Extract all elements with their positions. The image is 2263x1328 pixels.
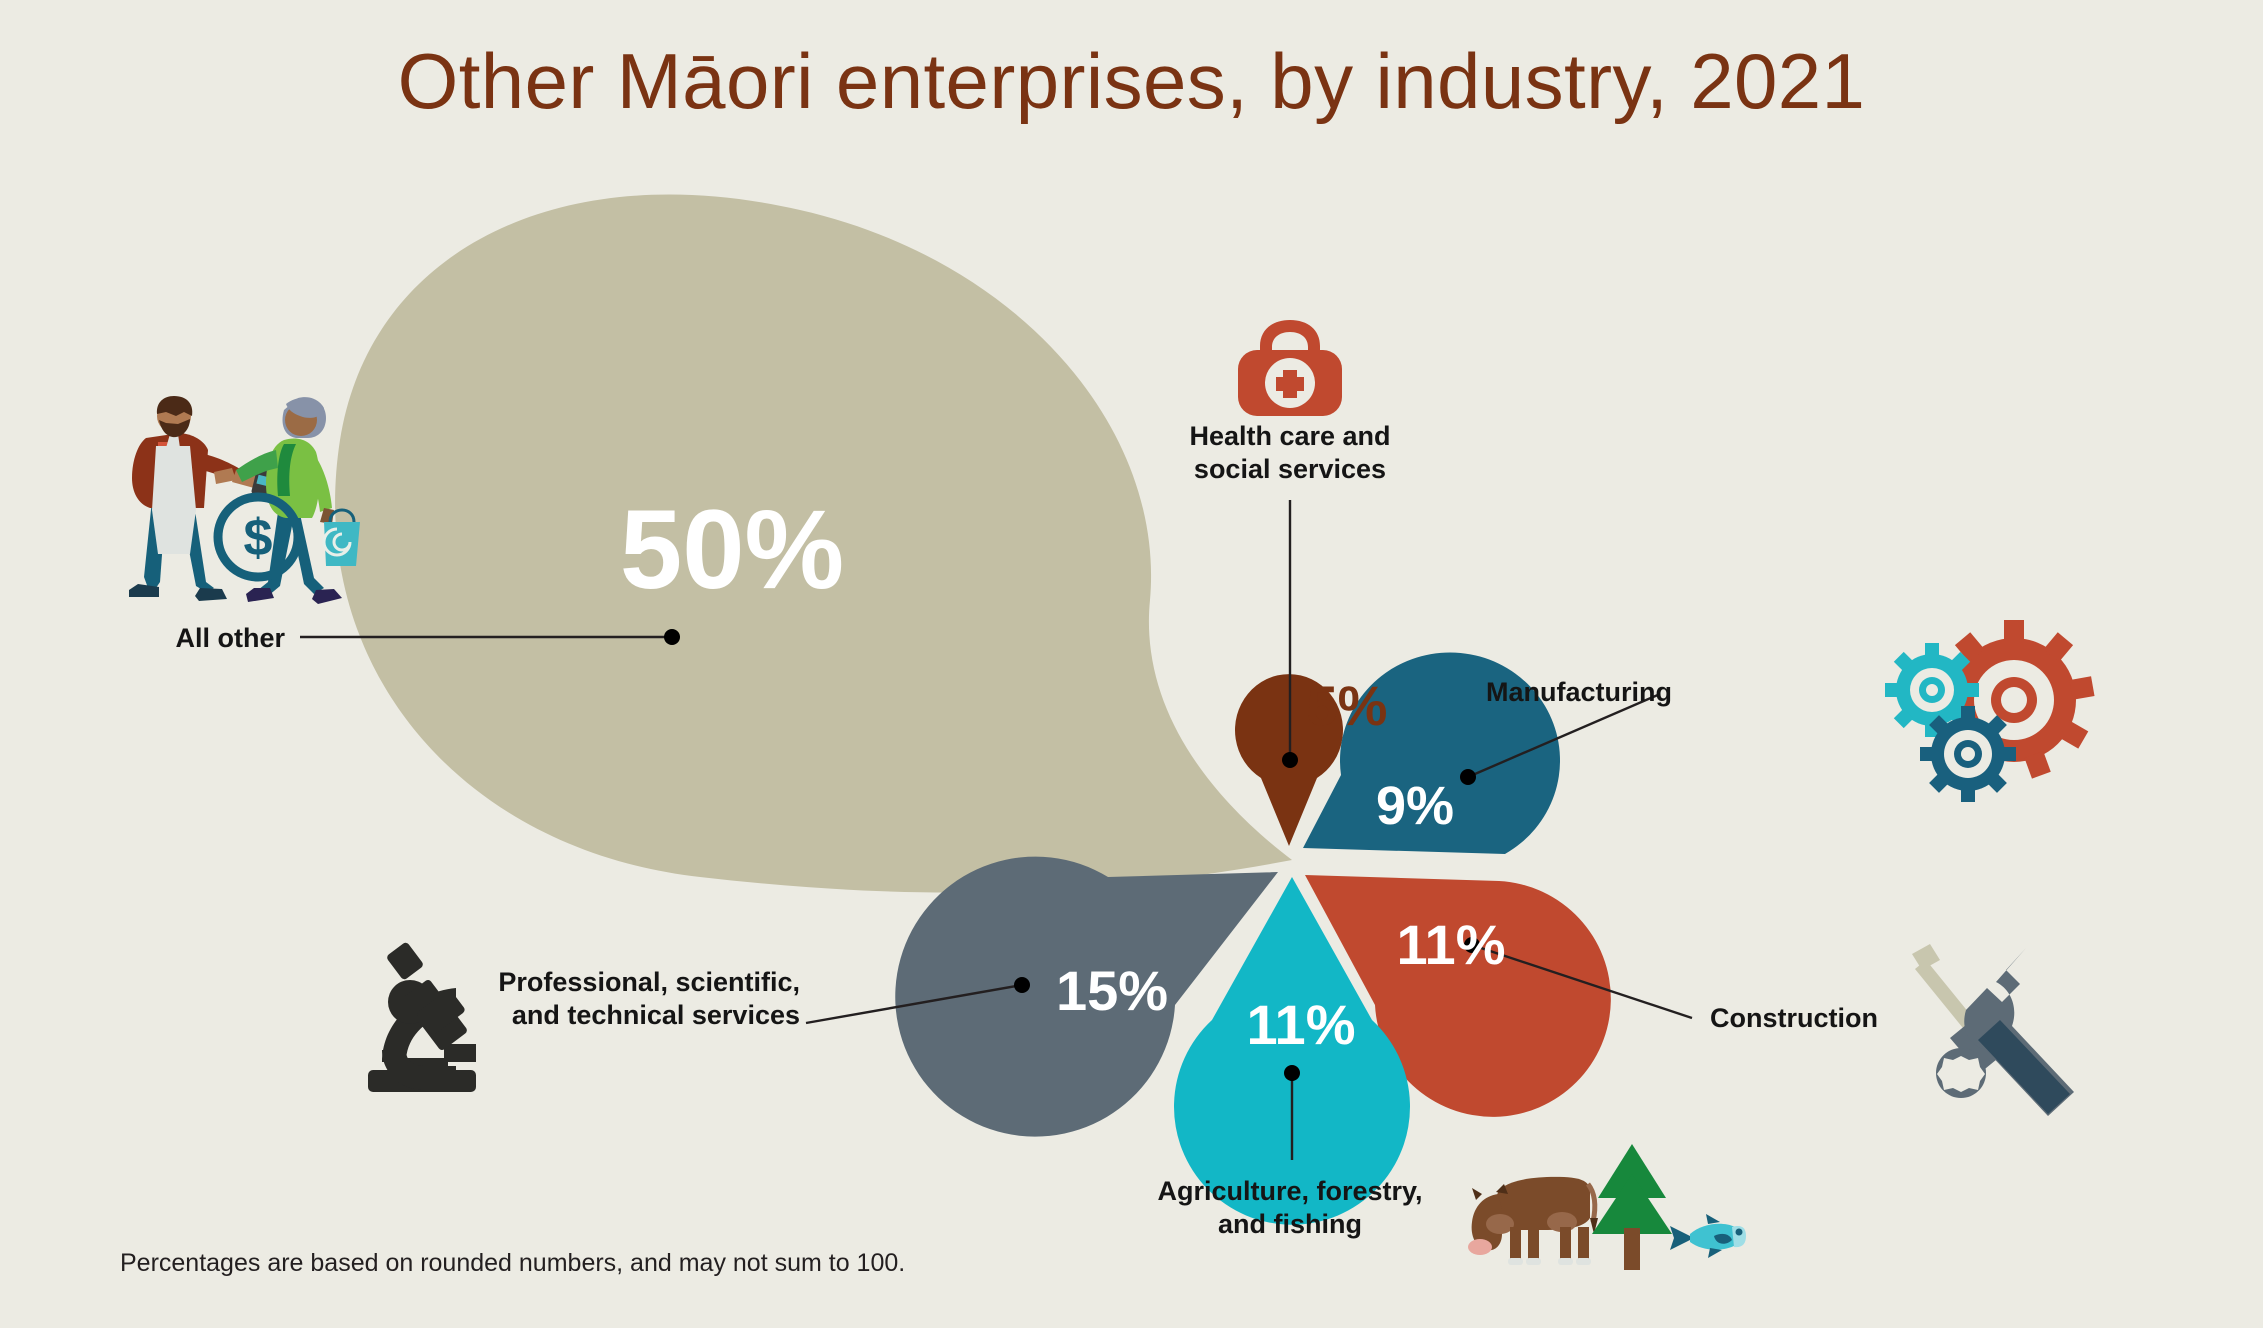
label-agriculture[interactable]: Agriculture, forestry, and fishing — [1130, 1175, 1450, 1242]
value-manufacturing: 9% — [1376, 776, 1454, 836]
value-health-care: 5% — [1307, 674, 1388, 737]
infographic-canvas: Other Māori enterprises, by industry, 20… — [0, 0, 2263, 1328]
label-construction[interactable]: Construction — [1710, 1002, 2010, 1035]
value-all-other: 50% — [620, 487, 844, 612]
label-health-care[interactable]: Health care and social services — [1140, 420, 1440, 487]
label-all-other[interactable]: All other — [60, 622, 285, 655]
label-professional[interactable]: Professional, scientific, and technical … — [440, 966, 800, 1033]
value-agriculture: 11% — [1247, 993, 1356, 1056]
value-construction: 11% — [1397, 913, 1506, 976]
label-manufacturing[interactable]: Manufacturing — [1400, 676, 1672, 709]
petal-values-layer: 50% 5% 9% 11% 11% 15% — [0, 0, 2263, 1328]
footnote-text: Percentages are based on rounded numbers… — [120, 1249, 905, 1278]
value-professional: 15% — [1056, 959, 1168, 1022]
